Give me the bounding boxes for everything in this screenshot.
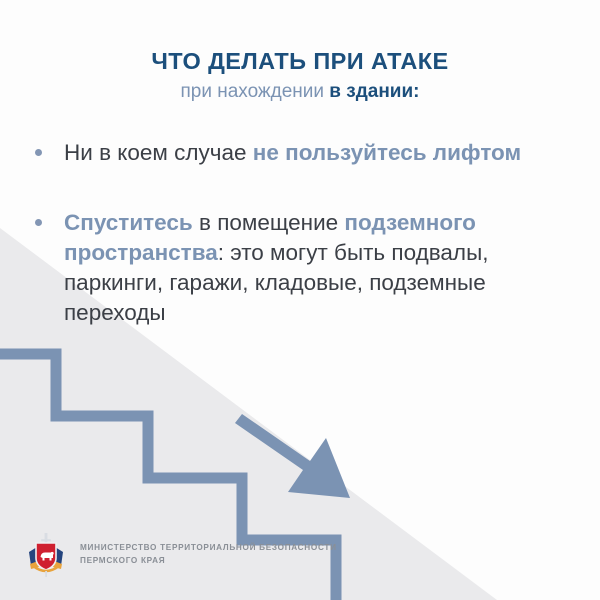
subtitle-strong-text: в здании: (329, 81, 419, 102)
footer-line-2: ПЕРМСКОГО КРАЯ (80, 555, 337, 568)
footer: МИНИСТЕРСТВО ТЕРРИТОРИАЛЬНОЙ БЕЗОПАСНОСТ… (26, 532, 337, 578)
bullet-dot-icon (35, 149, 42, 156)
bullet-segment: в помещение (193, 210, 345, 235)
bullet-segment: Ни в коем случае (64, 140, 253, 165)
bullet-elevator-text: Ни в коем случае не пользуйтесь лифтом (64, 138, 570, 168)
infographic-poster: ЧТО ДЕЛАТЬ ПРИ АТАКЕ при нахождении в зд… (0, 0, 600, 600)
list-item: Ни в коем случае не пользуйтесь лифтом (30, 138, 570, 168)
list-item: Спуститесь в помещение подземного простр… (30, 208, 570, 328)
downward-diagonal-arrow (235, 414, 350, 498)
footer-ministry-name: МИНИСТЕРСТВО ТЕРРИТОРИАЛЬНОЙ БЕЗОПАСНОСТ… (80, 542, 337, 567)
bullet-segment-accent: не пользуйтесь лифтом (253, 140, 521, 165)
footer-line-1: МИНИСТЕРСТВО ТЕРРИТОРИАЛЬНОЙ БЕЗОПАСНОСТ… (80, 542, 337, 555)
subtitle-normal-text: при нахождении (180, 81, 329, 102)
bullet-underground-text: Спуститесь в помещение подземного простр… (64, 208, 570, 328)
bullet-dot-icon (35, 219, 42, 226)
bullet-segment-accent: Спуститесь (64, 210, 193, 235)
perm-krai-ministry-emblem-icon (26, 532, 66, 578)
bullet-list: Ни в коем случае не пользуйтесь лифтом С… (30, 138, 570, 328)
page-subtitle: при нахождении в здании: (0, 81, 600, 104)
header: ЧТО ДЕЛАТЬ ПРИ АТАКЕ при нахождении в зд… (0, 48, 600, 104)
page-title: ЧТО ДЕЛАТЬ ПРИ АТАКЕ (0, 48, 600, 75)
